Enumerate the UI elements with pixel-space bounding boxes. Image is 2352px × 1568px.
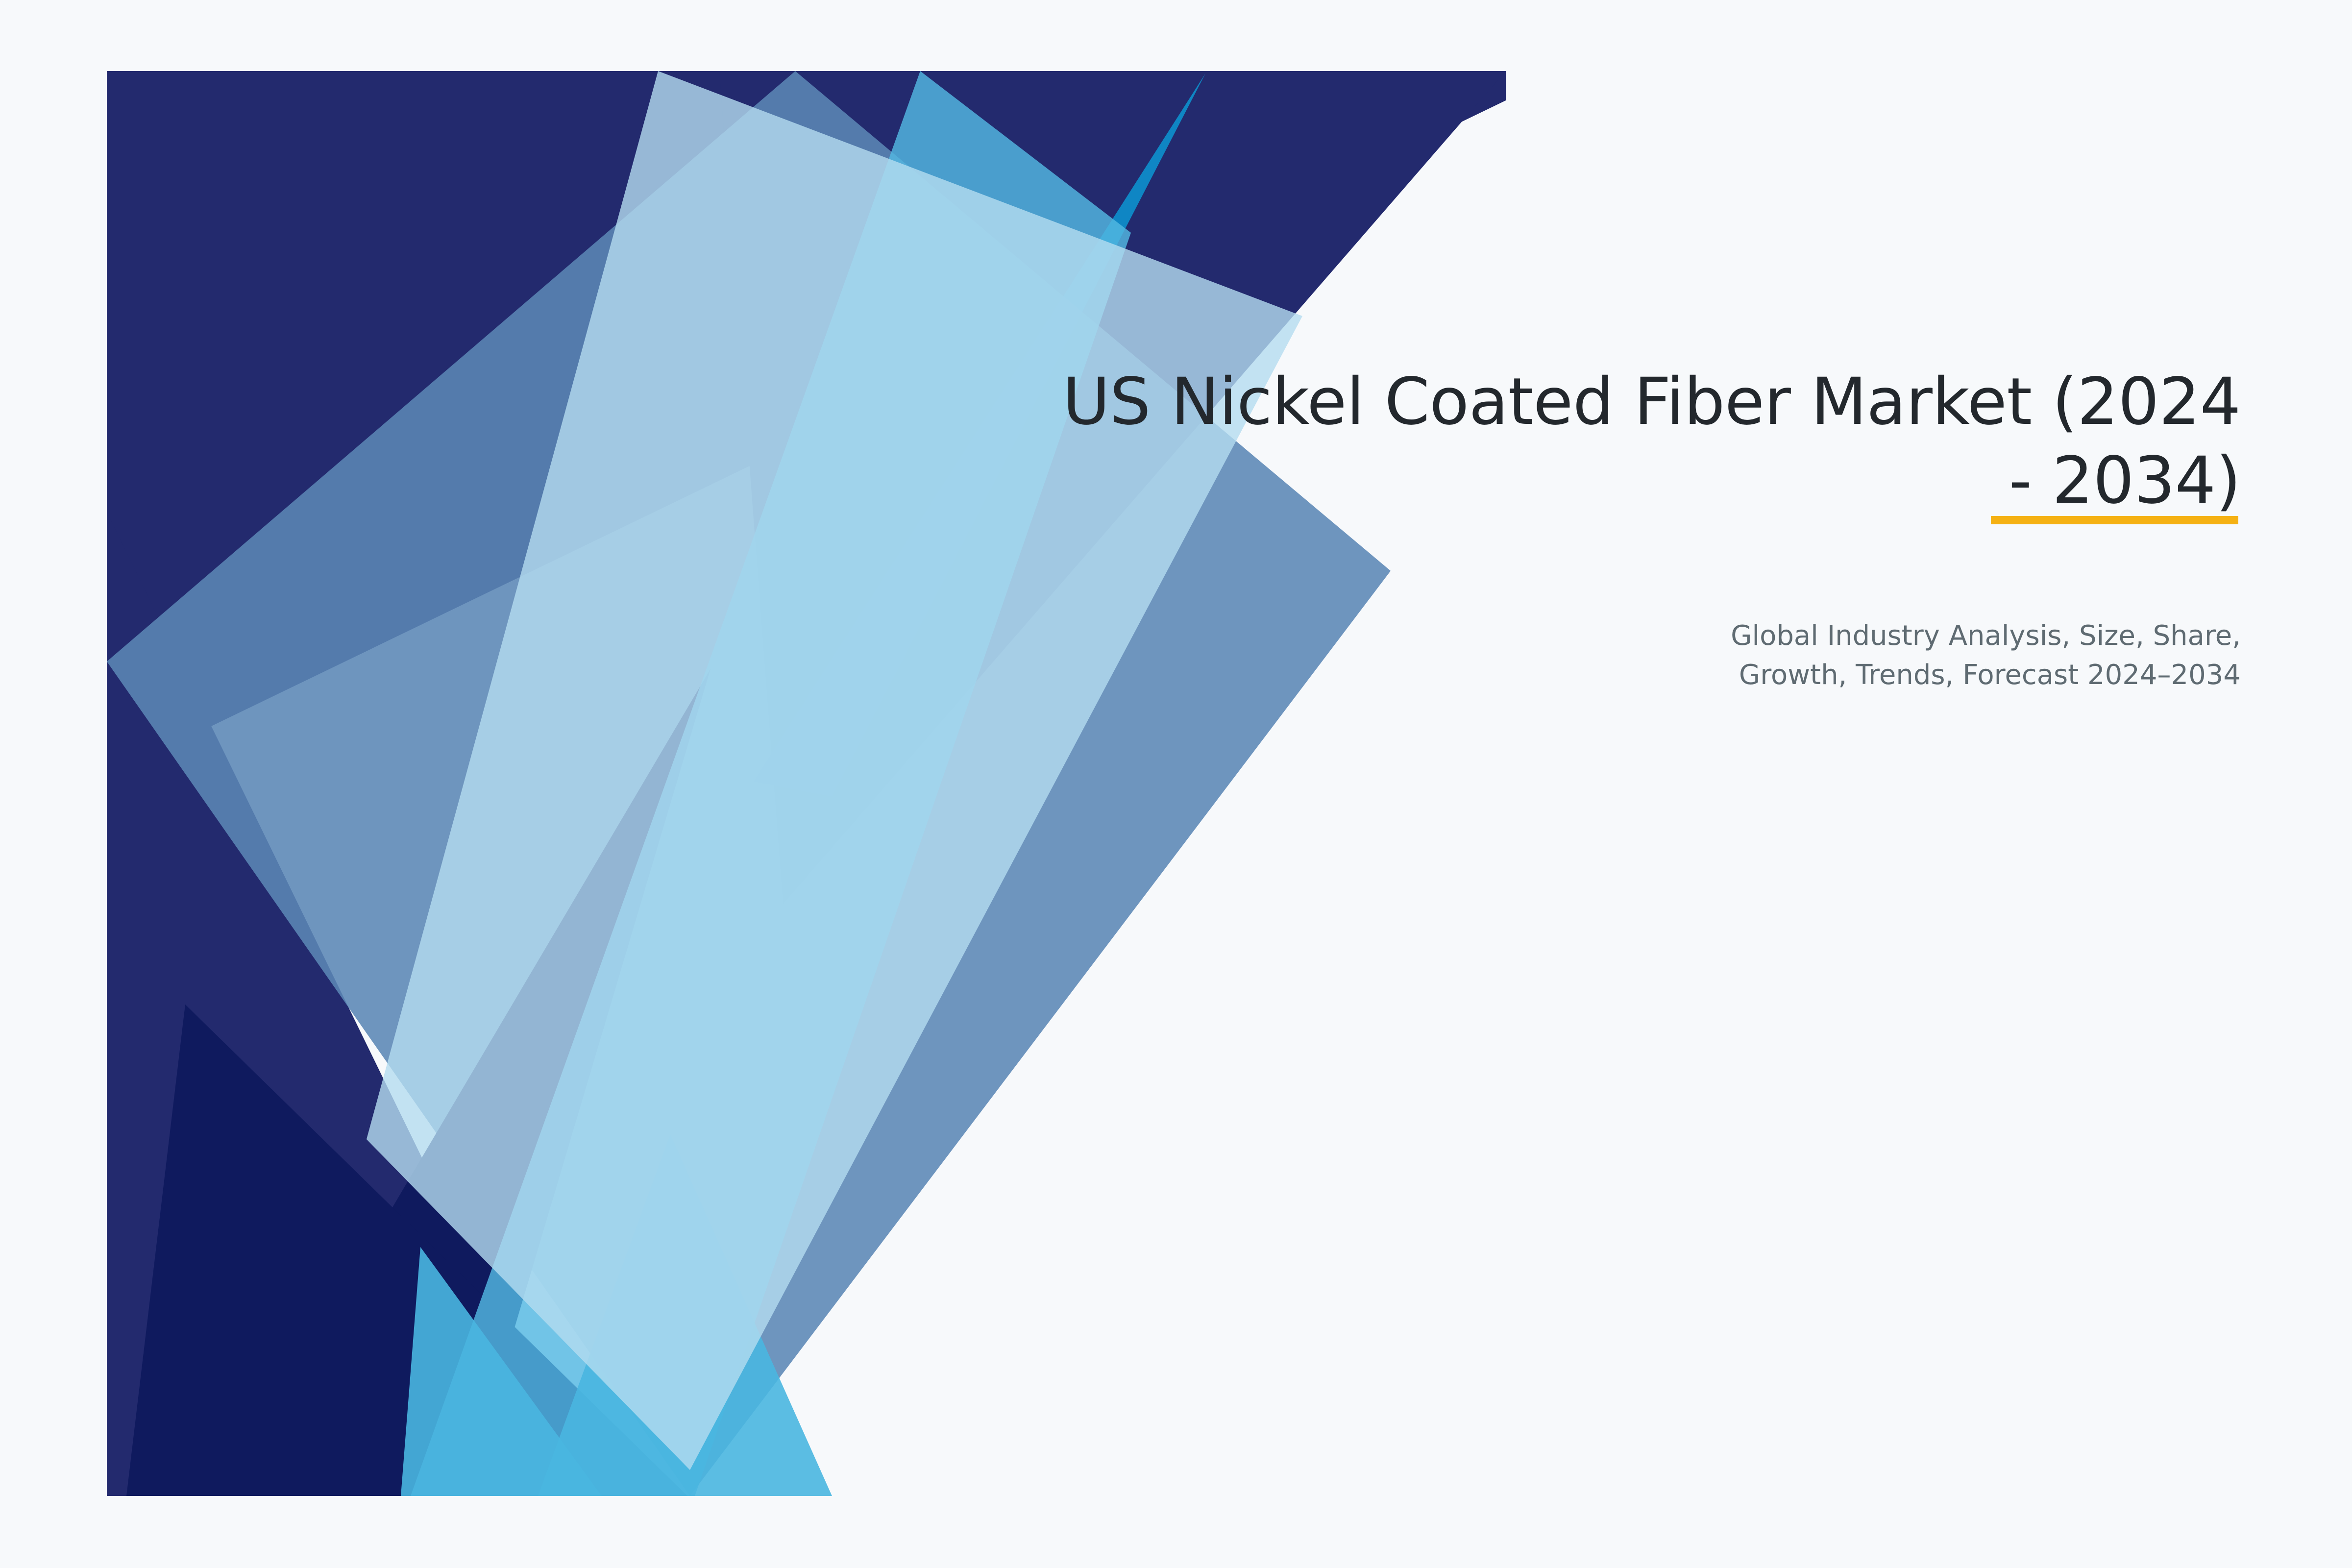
report-title-line-1: US Nickel Coated Fiber Market (2024 xyxy=(1063,364,2241,440)
abstract-geometric-cover-graphic xyxy=(107,71,1506,1496)
report-title-line-2: - 2034) xyxy=(2009,443,2241,518)
report-title-line-2-wrap: - 2034) xyxy=(928,441,2241,520)
page-subtitle: Global Industry Analysis, Size, Share, G… xyxy=(928,520,2241,694)
report-subtitle-line-1: Global Industry Analysis, Size, Share, xyxy=(1731,620,2241,652)
report-cover-page: US Nickel Coated Fiber Market (2024 - 20… xyxy=(0,0,2352,1568)
cover-title-block: US Nickel Coated Fiber Market (2024 - 20… xyxy=(928,363,2241,694)
report-subtitle-line-2: Growth, Trends, Forecast 2024–2034 xyxy=(1739,659,2241,691)
page-title: US Nickel Coated Fiber Market (2024 - 20… xyxy=(928,363,2241,520)
